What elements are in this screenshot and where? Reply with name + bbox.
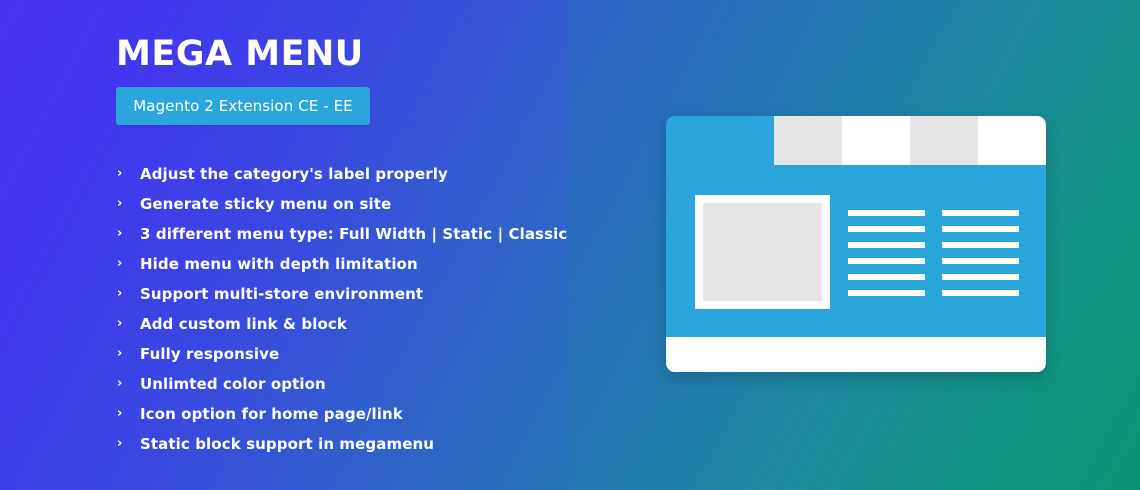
- mockup-nav-item: [842, 116, 910, 165]
- feature-label: 3 different menu type: Full Width | Stat…: [140, 225, 567, 243]
- mockup-text-bar: [848, 290, 925, 296]
- feature-label: Static block support in megamenu: [140, 435, 434, 453]
- chevron-right-icon: ›: [117, 249, 131, 279]
- mockup-text-bar: [848, 210, 925, 216]
- list-item: › Unlimted color option: [116, 369, 576, 399]
- chevron-right-icon: ›: [117, 159, 131, 189]
- page-title: MEGA MENU: [116, 33, 364, 75]
- badge-label: Magento 2 Extension CE - EE: [133, 97, 353, 115]
- list-item: › Static block support in megamenu: [116, 429, 576, 459]
- list-item: › Icon option for home page/link: [116, 399, 576, 429]
- feature-list: › Adjust the category's label properly ›…: [116, 159, 576, 459]
- list-item: › Support multi-store environment: [116, 279, 576, 309]
- chevron-right-icon: ›: [117, 369, 131, 399]
- image-placeholder-inner: [703, 203, 822, 301]
- list-item: › Fully responsive: [116, 339, 576, 369]
- chevron-right-icon: ›: [117, 339, 131, 369]
- list-item: › Adjust the category's label properly: [116, 159, 576, 189]
- list-item: › Generate sticky menu on site: [116, 189, 576, 219]
- chevron-right-icon: ›: [117, 189, 131, 219]
- mockup-text-bar: [942, 290, 1019, 296]
- feature-label: Adjust the category's label properly: [140, 165, 448, 183]
- mockup-text-bar: [848, 242, 925, 248]
- list-item: › Hide menu with depth limitation: [116, 249, 576, 279]
- feature-label: Generate sticky menu on site: [140, 195, 391, 213]
- mockup-text-bar: [848, 258, 925, 264]
- extension-compatibility-badge: Magento 2 Extension CE - EE: [116, 87, 370, 125]
- mockup-text-bar: [942, 258, 1019, 264]
- mockup-text-bar: [848, 226, 925, 232]
- footer-bar: [666, 337, 1046, 372]
- feature-label: Hide menu with depth limitation: [140, 255, 418, 273]
- mockup-navbar: [774, 116, 1046, 165]
- mockup-text-bar: [942, 274, 1019, 280]
- list-item: › Add custom link & block: [116, 309, 576, 339]
- chevron-right-icon: ›: [117, 309, 131, 339]
- feature-label: Add custom link & block: [140, 315, 347, 333]
- mockup-text-bar: [942, 210, 1019, 216]
- image-placeholder: [695, 195, 830, 309]
- chevron-right-icon: ›: [117, 429, 131, 459]
- mega-menu-banner: MEGA MENU Magento 2 Extension CE - EE › …: [0, 0, 1140, 490]
- feature-label: Fully responsive: [140, 345, 279, 363]
- mockup-nav-item: [978, 116, 1046, 165]
- mockup-text-column: [942, 210, 1019, 296]
- mockup-text-bar: [942, 226, 1019, 232]
- chevron-right-icon: ›: [117, 219, 131, 249]
- mega-menu-mockup: [666, 116, 1046, 372]
- feature-label: Support multi-store environment: [140, 285, 423, 303]
- hero-content: MEGA MENU Magento 2 Extension CE - EE › …: [116, 0, 576, 490]
- feature-label: Icon option for home page/link: [140, 405, 403, 423]
- mockup-text-column: [848, 210, 925, 296]
- mockup-nav-item: [774, 116, 842, 165]
- chevron-right-icon: ›: [117, 279, 131, 309]
- chevron-right-icon: ›: [117, 399, 131, 429]
- mockup-text-bar: [942, 242, 1019, 248]
- feature-label: Unlimted color option: [140, 375, 326, 393]
- mockup-nav-item: [910, 116, 978, 165]
- list-item: › 3 different menu type: Full Width | St…: [116, 219, 576, 249]
- mockup-text-bar: [848, 274, 925, 280]
